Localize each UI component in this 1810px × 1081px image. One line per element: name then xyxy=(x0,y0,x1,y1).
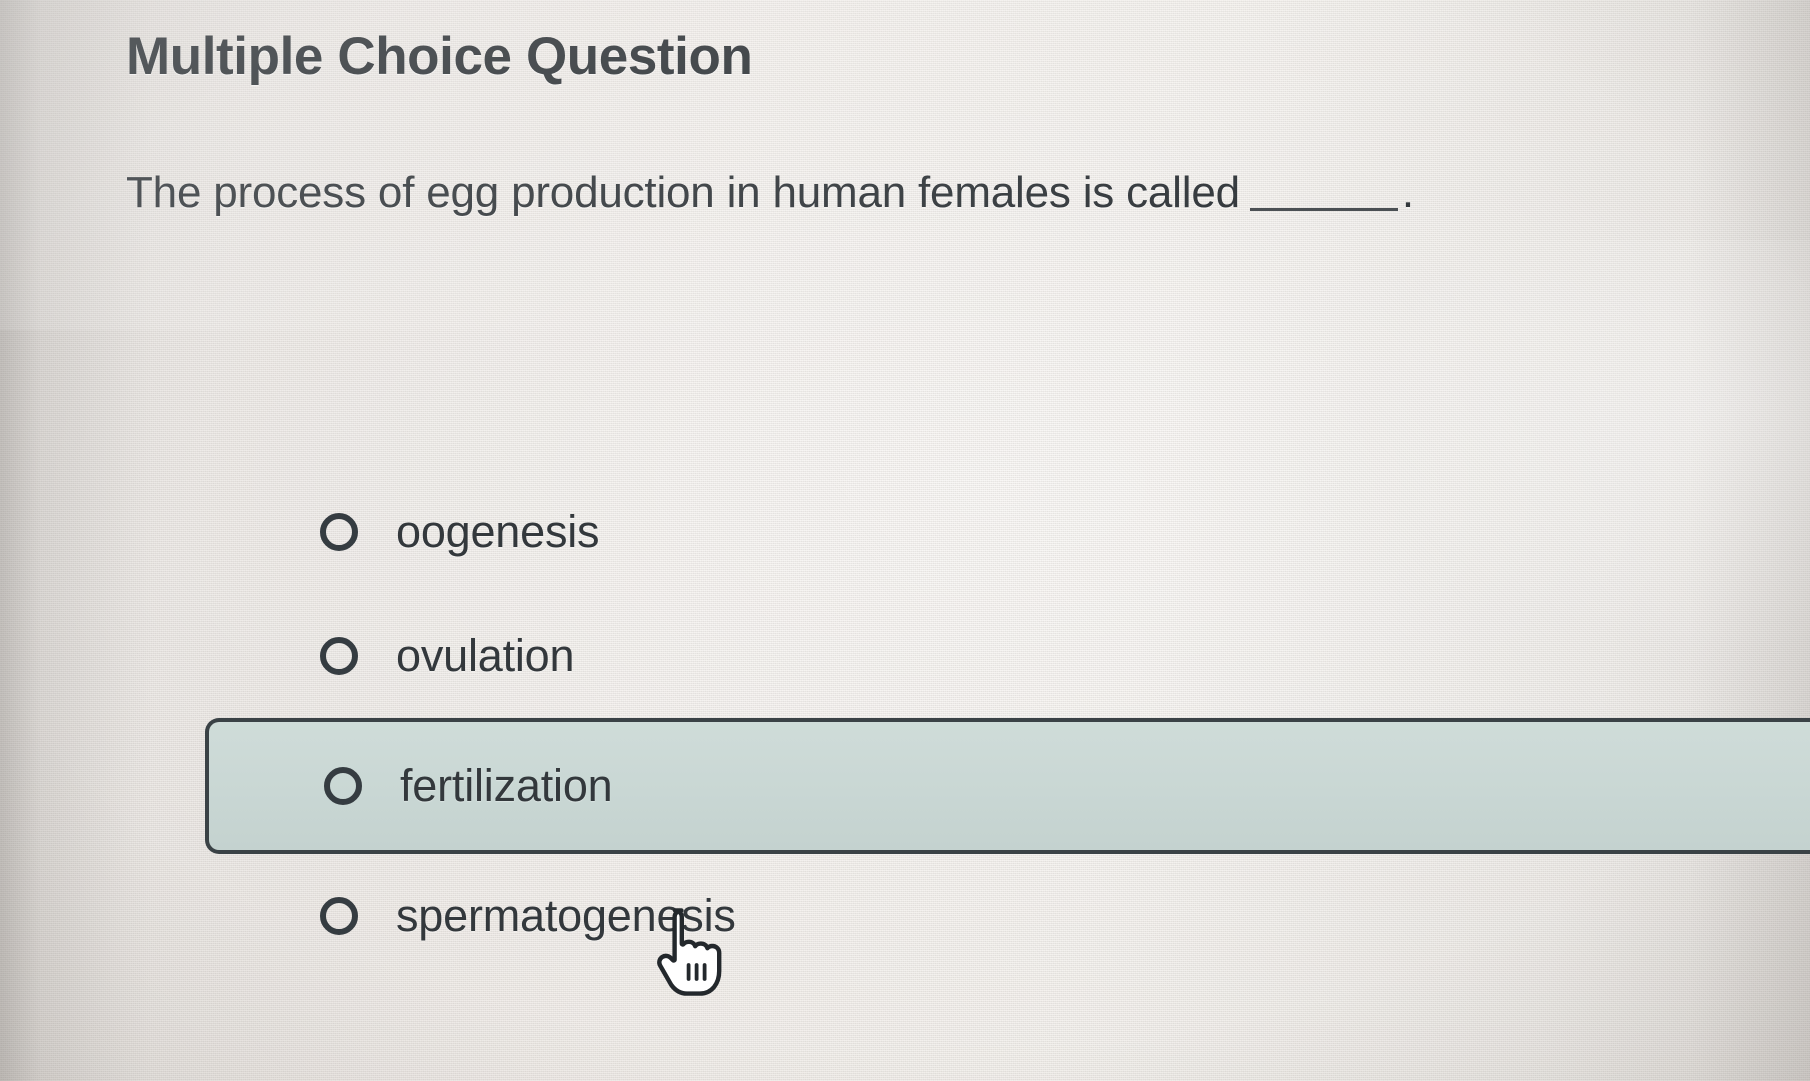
radio-button-icon-spermatogenesis[interactable] xyxy=(320,897,358,935)
question-suffix: . xyxy=(1402,168,1414,217)
answer-blank xyxy=(1250,208,1398,211)
page-title: Multiple Choice Question xyxy=(126,26,752,87)
question-prefix: The process of egg production in human f… xyxy=(126,168,1240,217)
option-label-spermatogenesis[interactable]: spermatogenesis xyxy=(396,890,736,942)
option-row-fertilization[interactable]: fertilization xyxy=(205,718,1810,854)
option-row-ovulation[interactable]: ovulation xyxy=(0,594,1810,718)
option-label-ovulation[interactable]: ovulation xyxy=(396,630,574,682)
question-text: The process of egg production in human f… xyxy=(126,168,1414,218)
radio-button-icon-fertilization[interactable] xyxy=(324,767,362,805)
option-label-fertilization[interactable]: fertilization xyxy=(400,760,613,812)
quiz-content: Multiple Choice Question The process of … xyxy=(0,0,1810,1081)
answer-options-list: oogenesis ovulation fertilization sperma… xyxy=(0,470,1810,978)
radio-button-icon-oogenesis[interactable] xyxy=(320,513,358,551)
option-label-oogenesis[interactable]: oogenesis xyxy=(396,506,599,558)
option-row-oogenesis[interactable]: oogenesis xyxy=(0,470,1810,594)
radio-button-icon-ovulation[interactable] xyxy=(320,637,358,675)
screen-photo: Multiple Choice Question The process of … xyxy=(0,0,1810,1081)
option-row-spermatogenesis[interactable]: spermatogenesis xyxy=(0,854,1810,978)
